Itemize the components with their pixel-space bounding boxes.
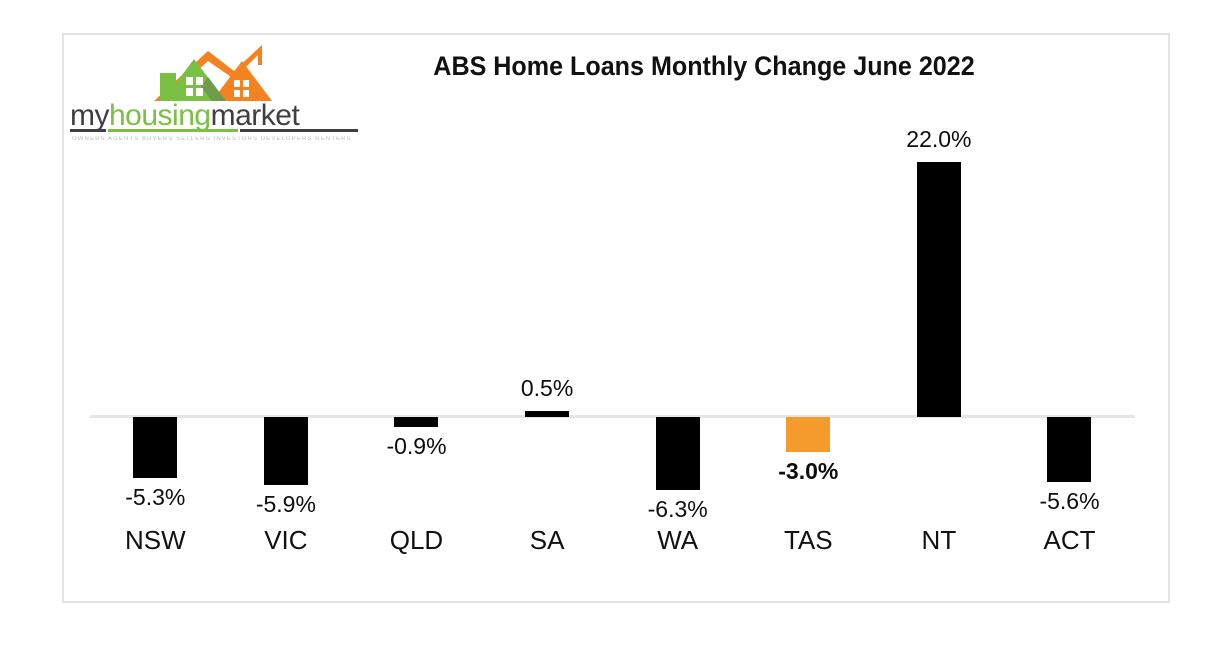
category-label-qld: QLD (351, 525, 481, 556)
chart-container: myhousingmarket OWNERS AGENTS BUYERS SEL… (62, 33, 1170, 603)
bar-group-sa: 0.5%SA (482, 35, 613, 575)
category-label-tas: TAS (743, 525, 873, 556)
bar-group-tas: -3.0%TAS (743, 35, 874, 575)
bar-tas[interactable] (786, 417, 830, 452)
bar-wa[interactable] (656, 417, 700, 490)
bar-nt[interactable] (917, 162, 961, 417)
value-label-vic: -5.9% (221, 491, 351, 518)
bar-group-act: -5.6%ACT (1004, 35, 1135, 575)
bar-group-wa: -6.3%WA (612, 35, 743, 575)
bar-group-vic: -5.9%VIC (221, 35, 352, 575)
bar-act[interactable] (1047, 417, 1091, 482)
value-label-act: -5.6% (1004, 488, 1134, 515)
category-label-nsw: NSW (90, 525, 220, 556)
category-label-wa: WA (613, 525, 743, 556)
category-label-sa: SA (482, 525, 612, 556)
category-label-nt: NT (874, 525, 1004, 556)
value-label-nt: 22.0% (874, 126, 1004, 153)
value-label-qld: -0.9% (351, 433, 481, 460)
category-label-vic: VIC (221, 525, 351, 556)
bar-vic[interactable] (264, 417, 308, 485)
bar-group-nsw: -5.3%NSW (90, 35, 221, 575)
bar-qld[interactable] (394, 417, 438, 427)
value-label-sa: 0.5% (482, 375, 612, 402)
bar-group-qld: -0.9%QLD (351, 35, 482, 575)
bar-group-nt: 22.0%NT (874, 35, 1005, 575)
value-label-wa: -6.3% (613, 496, 743, 523)
bar-sa[interactable] (525, 411, 569, 417)
bar-nsw[interactable] (133, 417, 177, 478)
value-label-tas: -3.0% (743, 458, 873, 485)
plot-area: -5.3%NSW-5.9%VIC-0.9%QLD0.5%SA-6.3%WA-3.… (90, 35, 1162, 575)
category-label-act: ACT (1004, 525, 1134, 556)
value-label-nsw: -5.3% (90, 484, 220, 511)
